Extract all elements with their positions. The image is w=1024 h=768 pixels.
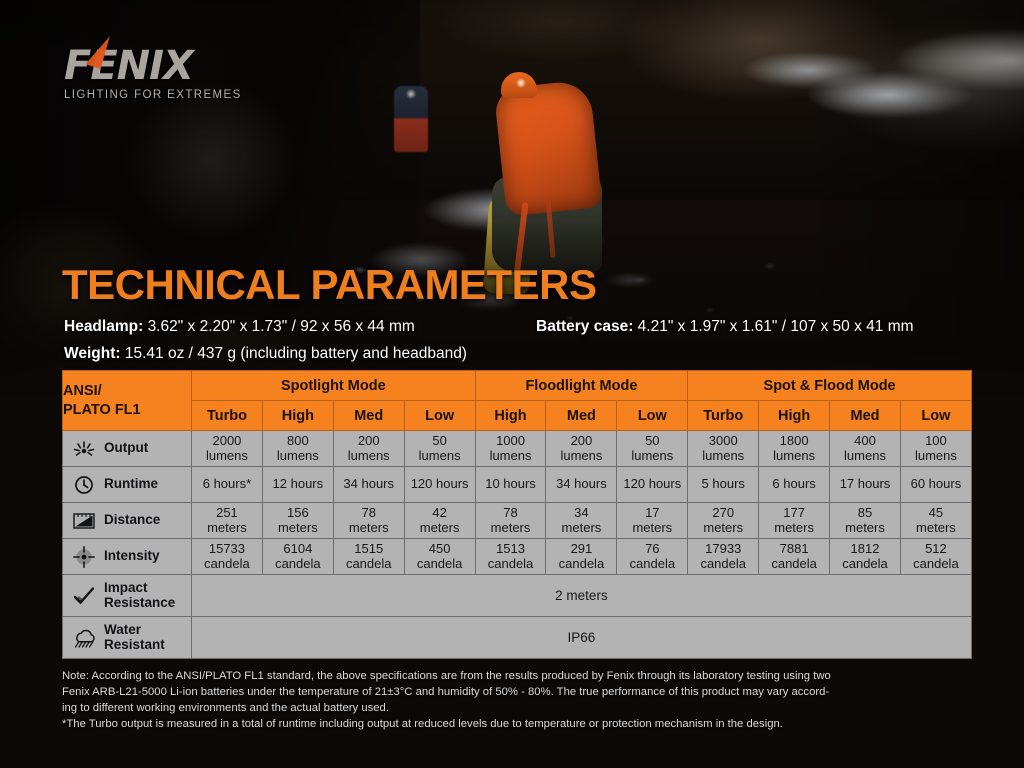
light-burst-icon: [71, 438, 97, 460]
cell-runtime-spotflood-med: 17 hours: [830, 467, 901, 503]
fenix-logo: FENIX LIGHTING FOR EXTREMES: [64, 46, 242, 101]
table-row: Distance 251meters 156meters 78meters 42…: [63, 503, 972, 539]
cell-output-spotflood-turbo: 3000lumens: [688, 431, 759, 467]
row-label-text: Intensity: [104, 549, 160, 564]
cell-output-floodlight-low: 50lumens: [617, 431, 688, 467]
table-row: Impact Resistance 2 meters: [63, 575, 972, 617]
cell-distance-floodlight-med: 34meters: [546, 503, 617, 539]
cell-intensity-floodlight-med: 291candela: [546, 539, 617, 575]
row-label-runtime: Runtime: [63, 467, 192, 503]
mode-spotflood-low: Low: [900, 401, 971, 431]
cell-intensity-spotlight-turbo: 15733candela: [192, 539, 263, 575]
row-label-distance: Distance: [63, 503, 192, 539]
note-line-3: ing to different working environments an…: [62, 700, 972, 716]
mode-spotlight-med: Med: [333, 401, 404, 431]
note-line-1: Note: According to the ANSI/PLATO FL1 st…: [62, 668, 972, 684]
cell-intensity-floodlight-high: 1513candela: [475, 539, 546, 575]
spec-headlamp: Headlamp: 3.62" x 2.20" x 1.73" / 92 x 5…: [64, 318, 415, 337]
impact-label-line2: Resistance: [104, 596, 175, 611]
table-row: Water Resistant IP66: [63, 617, 972, 659]
cell-output-spotflood-low: 100lumens: [900, 431, 971, 467]
cell-intensity-spotflood-med: 1812candela: [830, 539, 901, 575]
cell-distance-spotflood-turbo: 270meters: [688, 503, 759, 539]
spec-weight-value: 15.41 oz / 437 g (including battery and …: [125, 345, 467, 362]
mode-floodlight-high: High: [475, 401, 546, 431]
spec-weight: Weight: 15.41 oz / 437 g (including batt…: [64, 345, 467, 364]
row-label-intensity: Intensity: [63, 539, 192, 575]
cell-output-spotflood-high: 1800lumens: [759, 431, 830, 467]
mode-floodlight-low: Low: [617, 401, 688, 431]
spec-battery-value: 4.21" x 1.97" x 1.61" / 107 x 50 x 41 mm: [638, 318, 914, 335]
technical-parameters-table: ANSI/ PLATO FL1 Spotlight Mode Floodligh…: [62, 370, 972, 659]
cell-impact-resistance-value: 2 meters: [192, 575, 972, 617]
mode-floodlight-med: Med: [546, 401, 617, 431]
group-header-floodlight: Floodlight Mode: [475, 371, 688, 401]
group-header-spotlight: Spotlight Mode: [192, 371, 476, 401]
cell-output-floodlight-med: 200lumens: [546, 431, 617, 467]
cell-distance-spotflood-med: 85meters: [830, 503, 901, 539]
table-row: Intensity 15733candela 6104candela 1515c…: [63, 539, 972, 575]
cell-distance-spotlight-high: 156meters: [262, 503, 333, 539]
mode-spotflood-med: Med: [830, 401, 901, 431]
row-label-text: Distance: [104, 513, 160, 528]
cell-runtime-spotflood-high: 6 hours: [759, 467, 830, 503]
cell-intensity-spotlight-med: 1515candela: [333, 539, 404, 575]
ansi-plato-corner: ANSI/ PLATO FL1: [63, 371, 192, 431]
impact-label-line1: Impact: [104, 581, 175, 596]
table-header-group-row: ANSI/ PLATO FL1 Spotlight Mode Floodligh…: [63, 371, 972, 401]
spec-weight-label: Weight:: [64, 345, 121, 362]
ansi-line1: ANSI/: [63, 382, 191, 400]
row-label-text: Water Resistant: [104, 623, 165, 653]
cell-intensity-spotflood-turbo: 17933candela: [688, 539, 759, 575]
cell-output-spotlight-high: 800lumens: [262, 431, 333, 467]
cell-intensity-spotlight-high: 6104candela: [262, 539, 333, 575]
row-label-impact-resistance: Impact Resistance: [63, 575, 192, 617]
intensity-starburst-icon: [71, 546, 97, 568]
cell-intensity-floodlight-low: 76candela: [617, 539, 688, 575]
water-label-line1: Water: [104, 623, 165, 638]
row-label-text: Impact Resistance: [104, 581, 175, 611]
cell-distance-spotlight-turbo: 251meters: [192, 503, 263, 539]
table-row: Runtime 6 hours* 12 hours 34 hours 120 h…: [63, 467, 972, 503]
spec-battery-case: Battery case: 4.21" x 1.97" x 1.61" / 10…: [536, 318, 914, 337]
clock-icon: [71, 474, 97, 496]
impact-check-icon: [71, 585, 97, 607]
mode-spotlight-turbo: Turbo: [192, 401, 263, 431]
cell-output-spotlight-low: 50lumens: [404, 431, 475, 467]
cell-water-resistant-value: IP66: [192, 617, 972, 659]
cell-output-spotlight-med: 200lumens: [333, 431, 404, 467]
row-label-output: Output: [63, 431, 192, 467]
water-cloud-rain-icon: [71, 627, 97, 649]
cell-runtime-spotlight-turbo: 6 hours*: [192, 467, 263, 503]
note-line-4: *The Turbo output is measured in a total…: [62, 716, 972, 732]
cell-output-floodlight-high: 1000lumens: [475, 431, 546, 467]
cell-distance-spotflood-high: 177meters: [759, 503, 830, 539]
row-label-water-resistant: Water Resistant: [63, 617, 192, 659]
beam-distance-icon: [71, 510, 97, 532]
mode-spotlight-high: High: [262, 401, 333, 431]
cell-runtime-spotlight-high: 12 hours: [262, 467, 333, 503]
cell-distance-spotlight-low: 42meters: [404, 503, 475, 539]
spec-headlamp-label: Headlamp:: [64, 318, 143, 335]
cell-distance-floodlight-low: 17meters: [617, 503, 688, 539]
group-header-spot-flood: Spot & Flood Mode: [688, 371, 972, 401]
cell-runtime-spotflood-low: 60 hours: [900, 467, 971, 503]
spec-headlamp-value: 3.62" x 2.20" x 1.73" / 92 x 56 x 44 mm: [148, 318, 415, 335]
cell-distance-floodlight-high: 78meters: [475, 503, 546, 539]
spec-battery-label: Battery case:: [536, 318, 633, 335]
mode-spotflood-high: High: [759, 401, 830, 431]
cell-intensity-spotflood-high: 7881candela: [759, 539, 830, 575]
row-label-text: Output: [104, 441, 148, 456]
cell-intensity-spotflood-low: 512candela: [900, 539, 971, 575]
cell-distance-spotflood-low: 45meters: [900, 503, 971, 539]
logo-tagline: LIGHTING FOR EXTREMES: [64, 89, 242, 101]
footnote: Note: According to the ANSI/PLATO FL1 st…: [62, 668, 972, 732]
cell-distance-spotlight-med: 78meters: [333, 503, 404, 539]
cell-output-spotflood-med: 400lumens: [830, 431, 901, 467]
cell-output-spotlight-turbo: 2000lumens: [192, 431, 263, 467]
cell-intensity-spotlight-low: 450candela: [404, 539, 475, 575]
cell-runtime-floodlight-high: 10 hours: [475, 467, 546, 503]
note-line-2: Fenix ARB-L21-5000 Li-ion batteries unde…: [62, 684, 972, 700]
mode-spotlight-low: Low: [404, 401, 475, 431]
cell-runtime-floodlight-med: 34 hours: [546, 467, 617, 503]
row-label-text: Runtime: [104, 477, 158, 492]
cell-runtime-spotlight-med: 34 hours: [333, 467, 404, 503]
cell-runtime-spotlight-low: 120 hours: [404, 467, 475, 503]
ansi-line2: PLATO FL1: [63, 401, 191, 419]
cell-runtime-spotflood-turbo: 5 hours: [688, 467, 759, 503]
cell-runtime-floodlight-low: 120 hours: [617, 467, 688, 503]
page-title: TECHNICAL PARAMETERS: [62, 264, 596, 306]
table-row: Output 2000lumens 800lumens 200lumens 50…: [63, 431, 972, 467]
water-label-line2: Resistant: [104, 638, 165, 653]
table-header-mode-row: Turbo High Med Low High Med Low Turbo Hi…: [63, 401, 972, 431]
mode-spotflood-turbo: Turbo: [688, 401, 759, 431]
